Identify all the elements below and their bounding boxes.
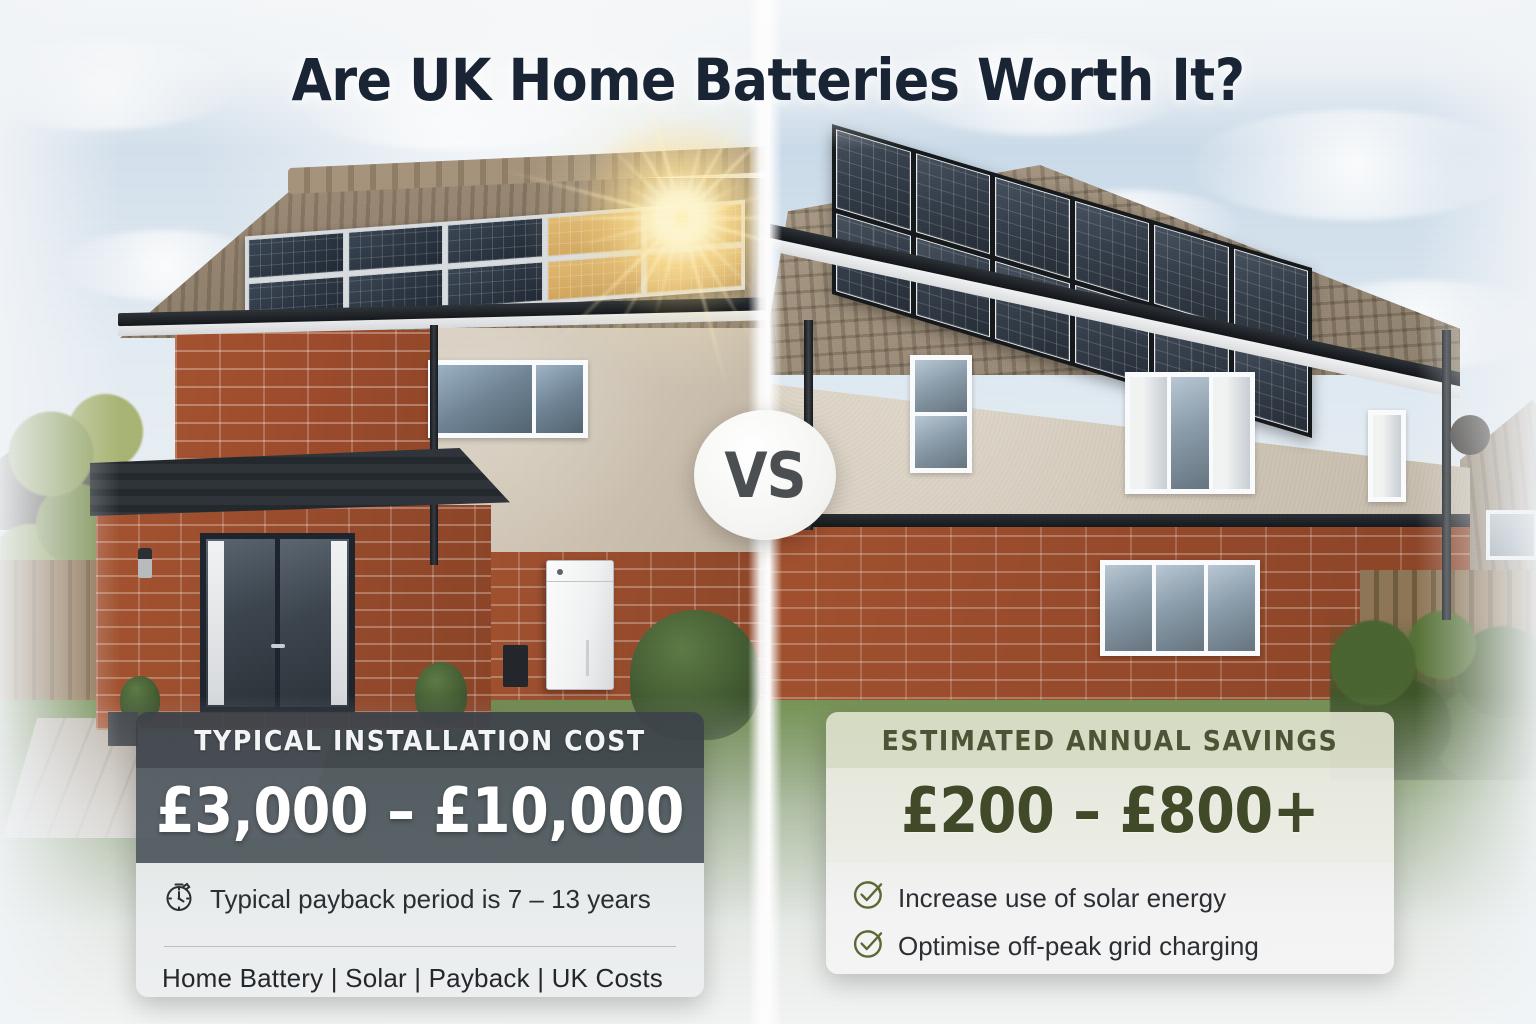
french-doors — [200, 533, 355, 713]
infographic-canvas: Are UK Home Batteries Worth It? VS TYPIC… — [0, 0, 1536, 1024]
solar-panel-cell — [547, 210, 643, 257]
window-pane — [433, 365, 532, 433]
payback-note-row: Typical payback period is 7 – 13 years — [162, 879, 678, 920]
card-divider — [164, 946, 676, 947]
home-battery-unit — [546, 560, 614, 690]
window-pane — [1213, 377, 1250, 489]
door-leaf — [206, 539, 275, 707]
planter-pot — [108, 712, 138, 746]
window-upper-left-right-house — [910, 355, 972, 473]
savings-bullet-row: Increase use of solar energy — [852, 879, 1368, 918]
window-pane — [1208, 565, 1255, 651]
neighbour-window — [1486, 510, 1536, 560]
vs-badge: VS — [694, 410, 836, 540]
savings-card-heading: ESTIMATED ANNUAL SAVINGS — [826, 712, 1394, 768]
savings-bullet-row: Optimise off-peak grid charging — [852, 928, 1368, 967]
solar-panel-cell — [646, 247, 742, 294]
solar-panel-cell — [447, 261, 543, 308]
window-pane — [536, 365, 583, 433]
upstairs-window-left — [428, 360, 588, 438]
stopwatch-icon — [162, 879, 196, 920]
door-handle — [271, 644, 285, 648]
savings-card-body: Increase use of solar energy Optimise of… — [826, 863, 1394, 974]
installation-cost-card: TYPICAL INSTALLATION COST £3,000 – £10,0… — [136, 712, 704, 997]
solar-panel-cell — [547, 254, 643, 301]
door-leaf — [280, 539, 349, 707]
solar-panel-cell — [916, 153, 991, 254]
window-pane — [1105, 565, 1152, 651]
downpipe-right — [1442, 330, 1451, 620]
window-pane — [1171, 377, 1208, 489]
cost-card-body: Typical payback period is 7 – 13 years H… — [136, 863, 704, 997]
payback-note-label: Typical payback period is 7 – 13 years — [210, 884, 651, 915]
inverter-box — [503, 645, 528, 687]
page-title: Are UK Home Batteries Worth It? — [0, 46, 1536, 114]
savings-bullet-label: Increase use of solar energy — [898, 884, 1226, 914]
downpipe-left — [430, 325, 438, 565]
window-upper-right-right-house — [1368, 410, 1406, 502]
window-pane — [1130, 377, 1167, 489]
solar-panel-cell — [995, 177, 1070, 278]
brick-band-right — [770, 514, 1470, 527]
satellite-dish-icon — [1450, 415, 1490, 455]
cloud-shape — [1190, 110, 1520, 220]
cost-card-heading: TYPICAL INSTALLATION COST — [136, 712, 704, 768]
window-pane — [915, 416, 967, 468]
window-pane — [1373, 415, 1401, 497]
annual-savings-card: ESTIMATED ANNUAL SAVINGS £200 – £800+ In… — [826, 712, 1394, 974]
topic-tags: Home Battery | Solar | Payback | UK Cost… — [162, 963, 678, 994]
window-upper-centre-right-house — [1125, 372, 1255, 494]
solar-panel-cell — [1075, 201, 1150, 302]
check-circle-icon — [852, 879, 884, 918]
savings-bullet-label: Optimise off-peak grid charging — [898, 932, 1259, 962]
window-pane — [1156, 565, 1203, 651]
wall-lantern-icon — [138, 548, 152, 578]
solar-panel-cell — [646, 203, 742, 250]
solar-panel-cell — [248, 232, 344, 279]
solar-panel-cell — [836, 129, 911, 230]
battery-vent-slot — [586, 640, 589, 676]
solar-panel-cell — [447, 217, 543, 264]
vs-badge-label: VS — [724, 439, 805, 512]
solar-panel-cell — [348, 225, 444, 272]
check-circle-icon — [852, 928, 884, 967]
cost-card-value: £3,000 – £10,000 — [136, 768, 704, 863]
window-ground-right-house — [1100, 560, 1260, 656]
savings-card-value: £200 – £800+ — [826, 768, 1394, 863]
window-pane — [915, 360, 967, 412]
